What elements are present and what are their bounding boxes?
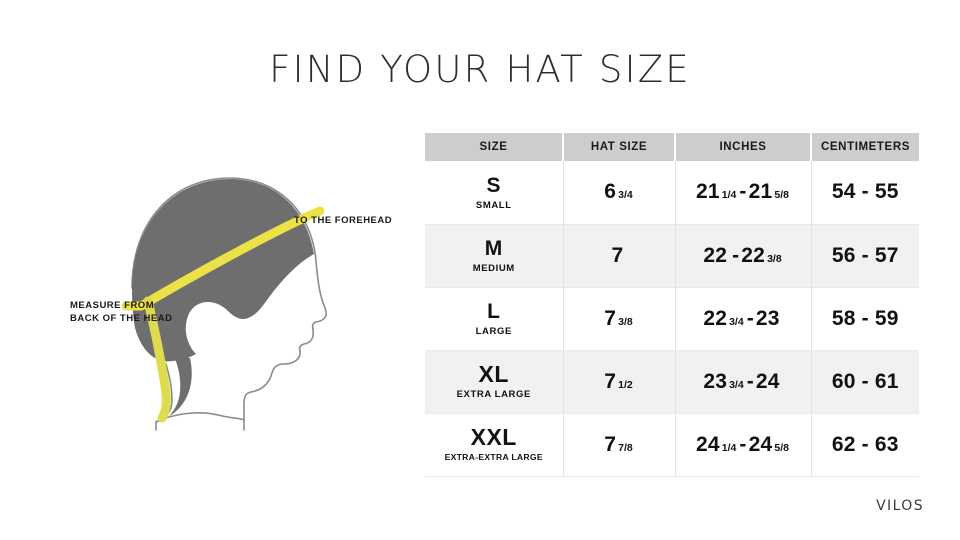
cell-inches: 233/4-24: [675, 350, 811, 413]
centimeters-value: 60 - 61: [832, 370, 899, 393]
header-row: SIZE HAT SIZE INCHES CENTIMETERS: [425, 133, 919, 161]
cell-size: M MEDIUM: [425, 224, 563, 287]
cell-size: S SMALL: [425, 161, 563, 224]
callout-measure-from-back: MEASURE FROM BACK OF THE HEAD: [70, 299, 172, 325]
callout-back-line2: BACK OF THE HEAD: [70, 313, 172, 324]
cell-centimeters: 56 - 57: [811, 224, 919, 287]
hat-size-table: SIZE HAT SIZE INCHES CENTIMETERS S SMALL…: [425, 133, 919, 477]
table-row: M MEDIUM 7 22-223/8 56 - 57: [425, 224, 919, 287]
cell-hat-size: 63/4: [563, 161, 675, 224]
column-header-inches: INCHES: [675, 133, 811, 161]
inches-value: 241/4-245/8: [696, 433, 790, 456]
table-header: SIZE HAT SIZE INCHES CENTIMETERS: [425, 133, 919, 161]
cell-size: XL EXTRA LARGE: [425, 350, 563, 413]
cell-centimeters: 54 - 55: [811, 161, 919, 224]
centimeters-value: 54 - 55: [832, 180, 899, 203]
size-abbr: S: [425, 173, 563, 198]
inches-value: 211/4-215/8: [696, 180, 790, 203]
size-full: LARGE: [425, 325, 563, 338]
cell-inches: 211/4-215/8: [675, 161, 811, 224]
hat-size-value: 63/4: [604, 180, 634, 203]
size-abbr: M: [425, 236, 563, 261]
inches-value: 233/4-24: [703, 370, 782, 393]
cell-inches: 22-223/8: [675, 224, 811, 287]
cell-centimeters: 60 - 61: [811, 350, 919, 413]
table-body: S SMALL 63/4 211/4-215/8 54 - 55 M MEDIU…: [425, 161, 919, 476]
size-abbr: L: [425, 299, 563, 324]
hat-size-value: 73/8: [604, 307, 634, 330]
size-full: SMALL: [425, 199, 563, 212]
centimeters-value: 62 - 63: [832, 433, 899, 456]
cell-hat-size: 77/8: [563, 413, 675, 476]
hat-size-value: 77/8: [604, 433, 634, 456]
hat-size-chart-page: FIND YOUR HAT SIZE TO THE FOREH: [0, 0, 960, 540]
cell-size: XXL EXTRA-EXTRA LARGE: [425, 413, 563, 476]
column-header-centimeters: CENTIMETERS: [811, 133, 919, 161]
table-row: S SMALL 63/4 211/4-215/8 54 - 55: [425, 161, 919, 224]
page-title: FIND YOUR HAT SIZE: [0, 48, 960, 91]
cell-hat-size: 7: [563, 224, 675, 287]
table-row: XXL EXTRA-EXTRA LARGE 77/8 241/4-245/8 6…: [425, 413, 919, 476]
column-header-hat-size: HAT SIZE: [563, 133, 675, 161]
cell-centimeters: 58 - 59: [811, 287, 919, 350]
cell-size: L LARGE: [425, 287, 563, 350]
cell-hat-size: 73/8: [563, 287, 675, 350]
size-full: MEDIUM: [425, 262, 563, 275]
cell-hat-size: 71/2: [563, 350, 675, 413]
callout-back-line1: MEASURE FROM: [70, 300, 154, 311]
hat-size-value: 7: [612, 244, 627, 267]
brand-logo: VILOS: [876, 498, 924, 514]
table-row: XL EXTRA LARGE 71/2 233/4-24 60 - 61: [425, 350, 919, 413]
size-full: EXTRA LARGE: [425, 388, 563, 401]
size-abbr: XL: [425, 362, 563, 387]
centimeters-value: 58 - 59: [832, 307, 899, 330]
table-row: L LARGE 73/8 223/4-23 58 - 59: [425, 287, 919, 350]
size-full: EXTRA-EXTRA LARGE: [425, 451, 563, 464]
cell-inches: 223/4-23: [675, 287, 811, 350]
cell-inches: 241/4-245/8: [675, 413, 811, 476]
cell-centimeters: 62 - 63: [811, 413, 919, 476]
centimeters-value: 56 - 57: [832, 244, 899, 267]
size-abbr: XXL: [425, 425, 563, 450]
inches-value: 22-223/8: [703, 244, 782, 267]
callout-to-the-forehead: TO THE FOREHEAD: [294, 214, 392, 227]
hat-size-value: 71/2: [604, 370, 634, 393]
column-header-size: SIZE: [425, 133, 563, 161]
inches-value: 223/4-23: [703, 307, 782, 330]
